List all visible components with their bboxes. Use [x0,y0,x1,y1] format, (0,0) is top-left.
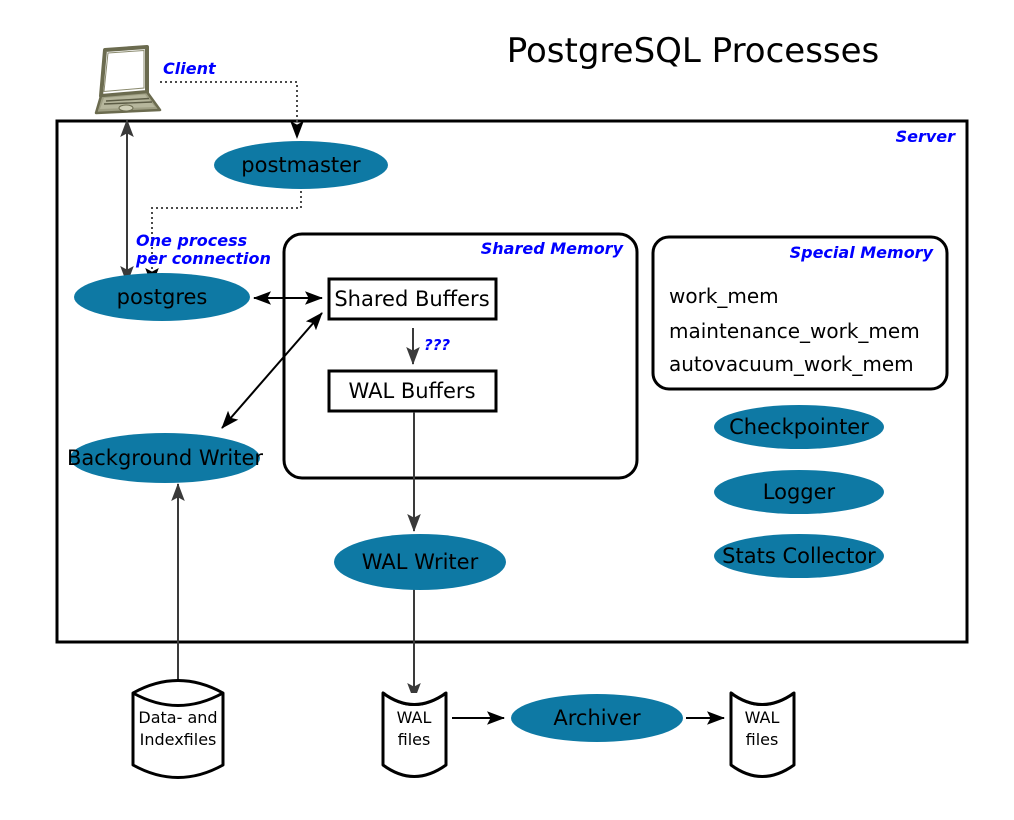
postgresql-processes-diagram: PostgreSQL Processes Server Client One p… [0,0,1014,820]
wal-buffers-label: WAL Buffers [348,379,475,403]
laptop-icon [96,47,160,113]
store-data-index-files-label-line1: Data- and [138,708,217,727]
one-process-note-line2: per connection [135,249,271,268]
special-memory-item-maintenance-work-mem: maintenance_work_mem [669,319,920,343]
process-postgres-label: postgres [117,285,208,309]
process-postmaster-label: postmaster [241,153,361,177]
client-label: Client [163,59,217,78]
store-wal-files-label-line2: files [398,730,431,749]
store-wal-archive-files-label-line2: files [746,730,779,749]
store-data-index-files[interactable] [133,681,223,778]
page-title: PostgreSQL Processes [507,31,880,71]
edge-client-to-postmaster [160,82,297,136]
store-data-index-files-label-line2: Indexfiles [140,730,217,749]
process-stats-collector-label: Stats Collector [722,544,876,568]
store-wal-files-label-line1: WAL [397,708,432,727]
server-label: Server [896,127,957,146]
process-logger-label: Logger [763,480,836,504]
special-memory-item-work-mem: work_mem [669,284,779,308]
shared-memory-label: Shared Memory [481,239,624,258]
process-archiver-label: Archiver [553,706,641,730]
special-memory-label: Special Memory [790,243,934,262]
unknown-flow-label: ??? [424,336,450,354]
one-process-note-line1: One process [136,231,247,250]
diagram-canvas: PostgreSQL Processes Server Client One p… [0,0,1014,820]
special-memory-item-autovacuum-work-mem: autovacuum_work_mem [669,352,914,376]
shared-memory-container [284,234,637,478]
shared-buffers-label: Shared Buffers [334,287,489,311]
store-wal-archive-files-label-line1: WAL [745,708,780,727]
process-wal-writer-label: WAL Writer [362,550,479,574]
process-background-writer-label: Background Writer [67,446,263,470]
process-checkpointer-label: Checkpointer [729,415,869,439]
